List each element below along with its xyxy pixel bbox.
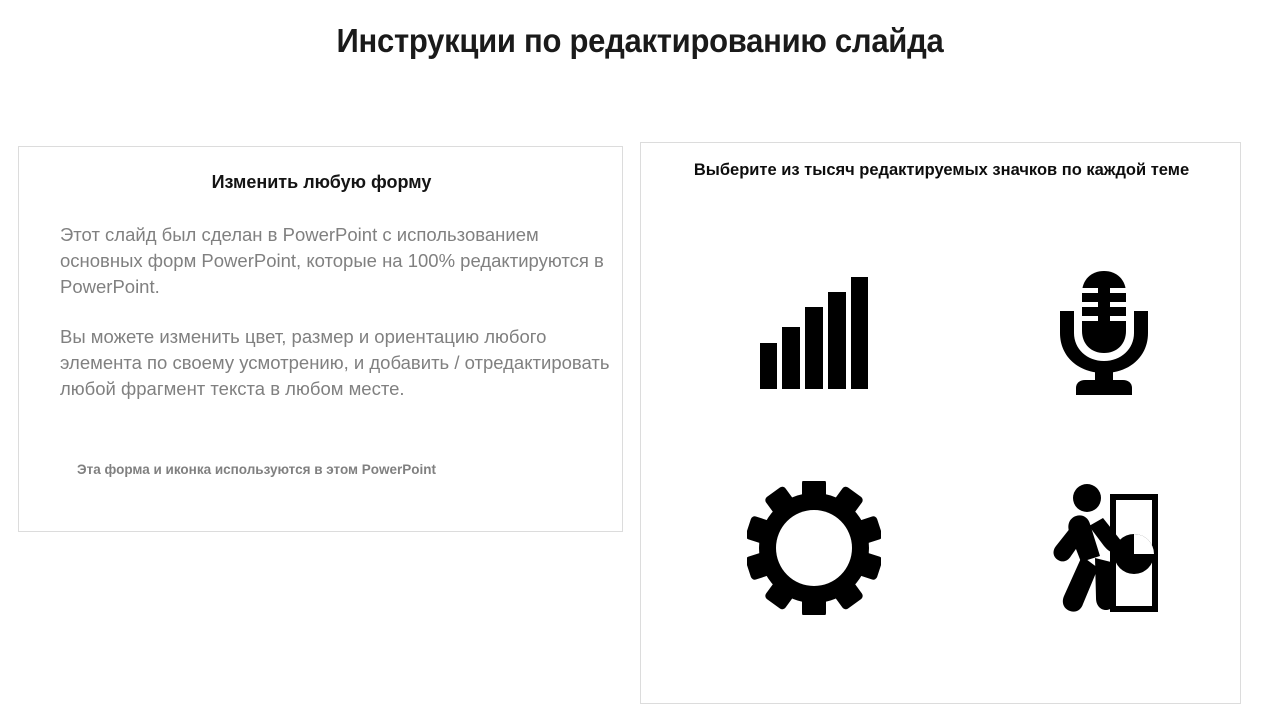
gear-icon-glyph bbox=[747, 481, 881, 615]
person-door-icon-glyph bbox=[1048, 484, 1160, 612]
person-door-icon[interactable] bbox=[976, 453, 1231, 643]
page-title: Инструкции по редактированию слайда bbox=[38, 22, 1241, 60]
gear-icon[interactable] bbox=[686, 453, 941, 643]
icon-gallery-card: Выберите из тысяч редактируемых значков … bbox=[640, 142, 1241, 704]
bar-chart-icon-glyph bbox=[760, 277, 868, 389]
microphone-icon-glyph bbox=[1054, 271, 1154, 395]
icon-gallery-heading: Выберите из тысяч редактируемых значков … bbox=[652, 160, 1231, 180]
bar-chart-icon[interactable] bbox=[686, 238, 941, 428]
edit-shape-card-heading: Изменить любую форму bbox=[19, 172, 624, 193]
edit-shape-card: Изменить любую форму Этот слайд был сдел… bbox=[18, 146, 623, 532]
microphone-icon[interactable] bbox=[976, 238, 1231, 428]
edit-shape-paragraph-2: Вы можете изменить цвет, размер и ориент… bbox=[60, 324, 612, 402]
edit-shape-paragraph-1: Этот слайд был сделан в PowerPoint с исп… bbox=[60, 222, 612, 300]
edit-shape-caption: Эта форма и иконка используются в этом P… bbox=[77, 462, 607, 477]
